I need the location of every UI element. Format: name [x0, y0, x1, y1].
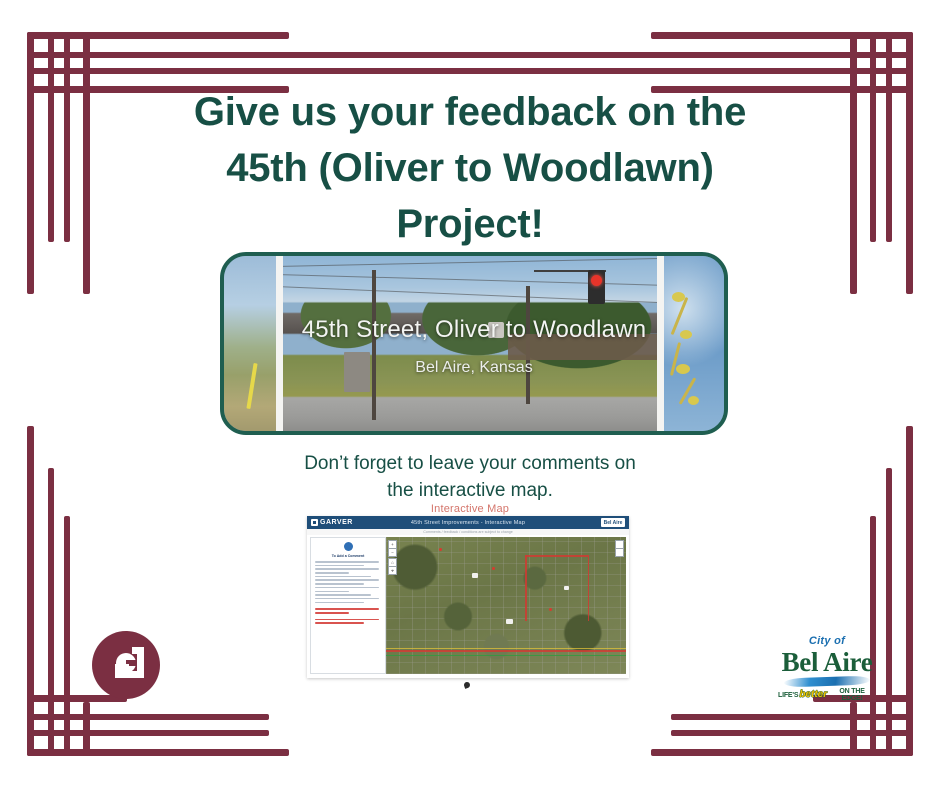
utility-pole — [372, 270, 376, 420]
instruction-line — [315, 594, 371, 596]
frame-line-bottom-right-v4 — [850, 702, 857, 756]
frame-line-top-right-v4 — [850, 32, 857, 294]
instructions-heading: To Add a Comment — [311, 554, 385, 558]
page-title-line-3: Project! — [150, 196, 790, 252]
map-building — [506, 619, 513, 624]
map-instructions-panel[interactable]: To Add a Comment — [310, 537, 386, 674]
proposed-improvement-line — [386, 648, 626, 649]
frame-line-top-left-v1 — [27, 32, 34, 294]
garver-logo — [92, 631, 160, 699]
info-badge-icon — [344, 542, 353, 551]
map-building — [472, 573, 478, 578]
map-app-header: GARVER 45th Street Improvements - Intera… — [307, 516, 629, 529]
tagline-post: ON THE EDGE! — [828, 688, 876, 702]
photo-overlay-title: 45th Street, Oliver to Woodlawn — [224, 316, 724, 344]
aerial-map-canvas[interactable]: + − ⌂ ⌖ — [386, 537, 626, 674]
bel-aire-city-of: City of — [778, 636, 876, 647]
page-title-line-2: 45th (Oliver to Woodlawn) — [150, 140, 790, 196]
frame-line-bottom-left-h1 — [27, 749, 289, 756]
frame-line-top-right-h2 — [273, 52, 913, 58]
instruction-line — [315, 587, 379, 589]
frame-line-bottom-left-v2 — [48, 468, 54, 756]
frame-line-bottom-left-v4 — [83, 702, 90, 756]
comment-pin[interactable] — [439, 548, 442, 551]
comment-pin[interactable] — [492, 567, 495, 570]
mouse-cursor-icon — [463, 681, 471, 689]
bel-aire-name: Bel Aire — [778, 648, 876, 676]
city-logo-chip: Bel Aire — [601, 518, 625, 527]
instruction-line — [315, 568, 379, 570]
instruction-line — [315, 583, 364, 585]
flower-bloom — [672, 292, 685, 302]
instruction-footer-red — [315, 622, 364, 624]
frame-line-top-left-h2 — [27, 52, 667, 58]
frame-line-bottom-right-v2 — [886, 468, 892, 756]
instruction-line — [315, 598, 379, 600]
frame-line-bottom-right-h2 — [671, 730, 913, 736]
instruction-note-red — [315, 612, 349, 614]
instruction-line — [315, 576, 371, 578]
bel-aire-tagline: LIFE'S better ON THE EDGE! — [778, 688, 876, 702]
frame-line-top-right-v2 — [886, 32, 892, 242]
instruction-footer-red — [315, 619, 379, 621]
interactive-map-screenshot[interactable]: GARVER 45th Street Improvements - Intera… — [307, 516, 629, 678]
call-to-action-line-1: Don’t forget to leave your comments on — [245, 450, 695, 477]
map-building — [564, 586, 569, 590]
comment-pin[interactable] — [549, 608, 552, 611]
photo-overlay-subtitle: Bel Aire, Kansas — [224, 359, 724, 377]
map-app-title: 45th Street Improvements - Interactive M… — [307, 520, 629, 526]
map-sub-caption: Comments / feedback / conditions are sub… — [307, 529, 629, 535]
page-title-line-1: Give us your feedback on the — [150, 84, 790, 140]
frame-line-top-right-h1 — [651, 32, 913, 39]
instruction-line — [315, 602, 364, 604]
bel-aire-logo: City of Bel Aire LIFE'S better ON THE ED… — [778, 636, 876, 702]
frame-line-top-left-h1 — [27, 32, 289, 39]
page-title: Give us your feedback on the 45th (Olive… — [150, 84, 790, 252]
frame-line-bottom-left-v3 — [64, 516, 70, 756]
instruction-note-red — [315, 608, 379, 610]
project-photo-card: 45th Street, Oliver to Woodlawn Bel Aire… — [220, 252, 728, 435]
flower-bloom — [688, 396, 699, 405]
call-to-action-line-2: the interactive map. — [245, 477, 695, 504]
power-line — [276, 274, 664, 286]
power-line — [276, 258, 664, 267]
frame-line-top-left-v3 — [64, 32, 70, 242]
frame-line-top-left-h3 — [27, 68, 667, 74]
interactive-map-caption: Interactive Map — [345, 503, 595, 515]
instruction-line — [315, 565, 364, 567]
bel-aire-swoosh-icon — [784, 676, 870, 688]
project-corridor-line — [525, 555, 587, 557]
frame-line-top-right-v3 — [870, 32, 876, 242]
traffic-signal-red-lamp — [591, 275, 602, 286]
tagline-mid: better — [799, 690, 827, 700]
frame-line-bottom-left-h3 — [27, 714, 269, 720]
frame-line-top-left-v2 — [48, 32, 54, 242]
sidewalk-line — [386, 655, 626, 656]
instruction-line — [315, 561, 379, 563]
zoom-out-button[interactable]: − — [388, 548, 397, 557]
project-corridor-line — [588, 555, 590, 621]
project-corridor-line — [525, 555, 527, 621]
frame-line-top-right-h3 — [273, 68, 913, 74]
instruction-line — [315, 579, 379, 581]
frame-line-bottom-left-h2 — [27, 730, 269, 736]
legend-toggle-button[interactable] — [615, 548, 624, 557]
project-corridor-line — [386, 650, 626, 652]
power-line — [276, 286, 664, 303]
frame-line-bottom-right-h1 — [651, 749, 913, 756]
instruction-line — [315, 591, 349, 593]
frame-line-bottom-left-v1 — [27, 426, 34, 756]
locate-button[interactable]: ⌖ — [388, 566, 397, 575]
frame-line-top-left-v4 — [83, 32, 90, 294]
tagline-pre: LIFE'S — [778, 692, 798, 699]
frame-line-bottom-right-v1 — [906, 426, 913, 756]
frame-line-top-right-v1 — [906, 32, 913, 294]
frame-line-bottom-right-h3 — [671, 714, 913, 720]
call-to-action-text: Don’t forget to leave your comments on t… — [245, 450, 695, 504]
instruction-line — [315, 572, 349, 574]
